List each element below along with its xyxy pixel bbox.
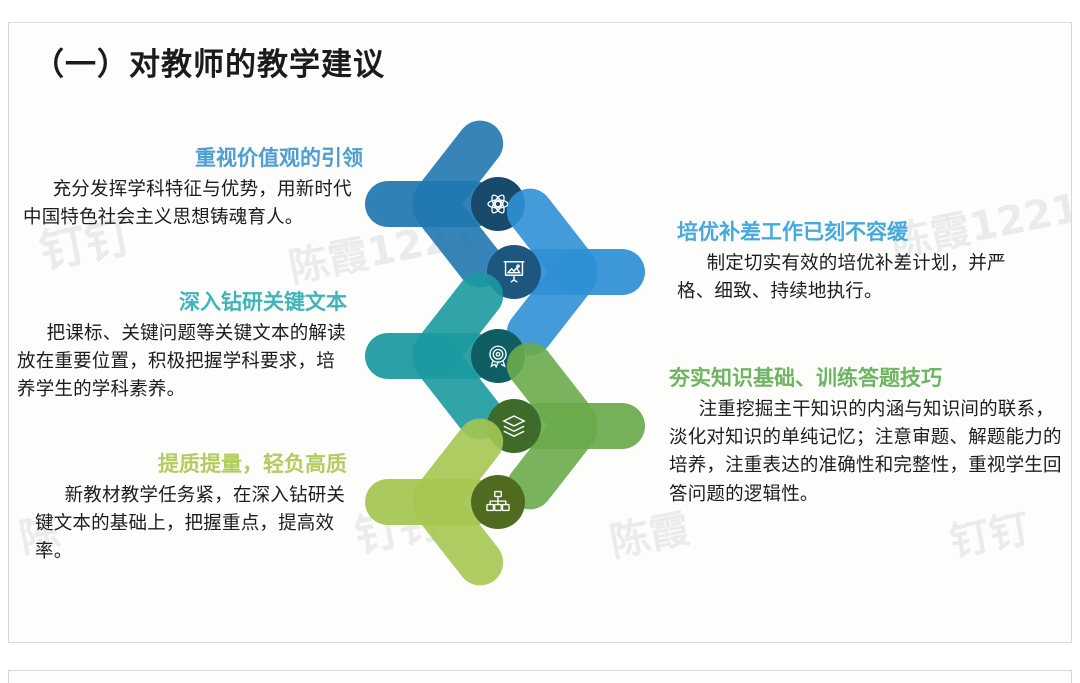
next-slide-card (8, 670, 1072, 683)
advice-heading: 深入钻研关键文本 (17, 289, 347, 315)
page-title: （一）对教师的教学建议 (33, 39, 385, 84)
advice-heading: 培优补差工作已刻不容缓 (677, 219, 1017, 245)
slide-card: 钉钉陈霞1221陈霞1221钉钉陈霞钉钉陈 （一）对教师的教学建议 (8, 22, 1072, 643)
arrow-shape-5 (361, 417, 531, 587)
advice-block-5: 提质提量，轻负高质新教材教学任务紧，在深入钻研关键文本的基础上，把握重点，提高效… (35, 451, 347, 567)
advice-body: 制定切实有效的培优补差计划，并严格、细致、持续地执行。 (677, 250, 1017, 306)
advice-block-2: 培优补差工作已刻不容缓制定切实有效的培优补差计划，并严格、细致、持续地执行。 (677, 219, 1017, 306)
advice-block-1: 重视价值观的引领充分发挥学科特征与优势，用新时代中国特色社会主义思想铸魂育人。 (23, 145, 363, 232)
org-chart-icon (471, 475, 525, 529)
advice-heading: 重视价值观的引领 (23, 145, 363, 171)
advice-block-3: 深入钻研关键文本把课标、关键问题等关键文本的解读放在重要位置，积极把握学科要求，… (17, 289, 347, 405)
advice-block-4: 夯实知识基础、训练答题技巧注重挖掘主干知识的内涵与知识间的联系，淡化对知识的单纯… (669, 365, 1069, 509)
page-top-gap (0, 0, 1080, 22)
advice-heading: 夯实知识基础、训练答题技巧 (669, 365, 1069, 391)
advice-body: 充分发挥学科特征与优势，用新时代中国特色社会主义思想铸魂育人。 (23, 176, 363, 232)
advice-body: 新教材教学任务紧，在深入钻研关键文本的基础上，把握重点，提高效率。 (35, 482, 347, 566)
advice-body: 把课标、关键问题等关键文本的解读放在重要位置，积极把握学科要求，培养学生的学科素… (17, 320, 347, 404)
advice-heading: 提质提量，轻负高质 (35, 451, 347, 477)
advice-body: 注重挖掘主干知识的内涵与知识间的联系，淡化对知识的单纯记忆；注意审题、解题能力的… (669, 396, 1069, 508)
slide-screenshot: 钉钉陈霞1221陈霞1221钉钉陈霞钉钉陈 （一）对教师的教学建议 (0, 0, 1080, 683)
